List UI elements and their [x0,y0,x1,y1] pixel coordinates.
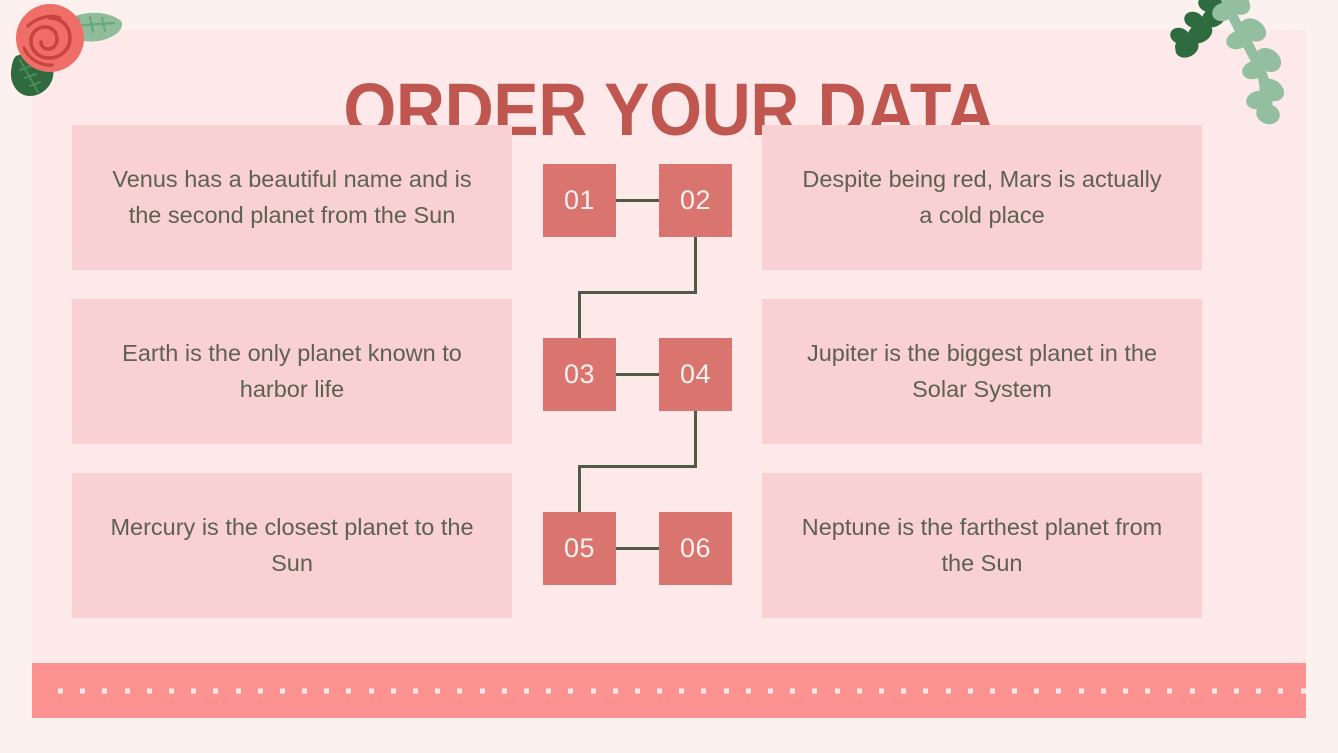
divider-dot [679,688,684,693]
step-number-label: 06 [680,533,711,564]
divider-dot [147,688,152,693]
connector-04-05-segment-into [578,465,581,512]
divider-dot [635,688,640,693]
info-card-03[interactable]: Earth is the only planet known to harbor… [72,299,512,444]
divider-dot [413,688,418,693]
slide-canvas: ORDER YOUR DATA Venus has a beautiful na… [0,0,1338,753]
step-number-label: 05 [564,533,595,564]
step-number-label: 02 [680,185,711,216]
divider-dot [546,688,551,693]
connector-04-05-segment-down [694,411,697,467]
connector-05-06 [616,547,659,550]
divider-dot [280,688,285,693]
divider-dot [102,688,107,693]
divider-dot [58,688,63,693]
connector-02-03-segment-down [694,237,697,293]
divider-dot [901,688,906,693]
dotted-divider [58,688,1306,693]
divider-dot [1190,688,1195,693]
divider-dot [1167,688,1172,693]
divider-dot [1123,688,1128,693]
bottom-decorative-bar [32,663,1306,718]
info-card-text: Neptune is the farthest planet from the … [796,510,1168,581]
divider-dot [812,688,817,693]
divider-dot [480,688,485,693]
divider-dot [768,688,773,693]
divider-dot [857,688,862,693]
step-number-box-01[interactable]: 01 [543,164,616,237]
step-number-box-03[interactable]: 03 [543,338,616,411]
divider-dot [568,688,573,693]
step-number-box-06[interactable]: 06 [659,512,732,585]
divider-dot [1101,688,1106,693]
info-card-05[interactable]: Mercury is the closest planet to the Sun [72,473,512,618]
divider-dot [968,688,973,693]
divider-dot [1079,688,1084,693]
divider-dot [923,688,928,693]
connector-02-03-segment-across [578,291,697,294]
info-card-text: Jupiter is the biggest planet in the Sol… [796,336,1168,407]
info-card-02[interactable]: Despite being red, Mars is actually a co… [762,125,1202,270]
connector-03-04 [616,373,659,376]
divider-dot [1212,688,1217,693]
divider-dot [1056,688,1061,693]
divider-dot [258,688,263,693]
connector-01-02 [616,199,659,202]
divider-dot [435,688,440,693]
divider-dot [1034,688,1039,693]
divider-dot [657,688,662,693]
divider-dot [524,688,529,693]
divider-dot [1145,688,1150,693]
divider-dot [169,688,174,693]
connector-02-03-segment-into [578,291,581,338]
info-card-text: Despite being red, Mars is actually a co… [796,162,1168,233]
step-number-label: 03 [564,359,595,390]
divider-dot [369,688,374,693]
divider-dot [502,688,507,693]
divider-dot [701,688,706,693]
divider-dot [724,688,729,693]
divider-dot [946,688,951,693]
step-number-label: 01 [564,185,595,216]
step-number-label: 04 [680,359,711,390]
info-card-06[interactable]: Neptune is the farthest planet from the … [762,473,1202,618]
divider-dot [80,688,85,693]
divider-dot [346,688,351,693]
divider-dot [1012,688,1017,693]
step-number-box-04[interactable]: 04 [659,338,732,411]
info-card-text: Mercury is the closest planet to the Sun [106,510,478,581]
step-number-box-05[interactable]: 05 [543,512,616,585]
divider-dot [236,688,241,693]
info-card-01[interactable]: Venus has a beautiful name and is the se… [72,125,512,270]
divider-dot [125,688,130,693]
divider-dot [790,688,795,693]
divider-dot [213,688,218,693]
divider-dot [457,688,462,693]
divider-dot [990,688,995,693]
divider-dot [324,688,329,693]
divider-dot [1278,688,1283,693]
info-card-text: Earth is the only planet known to harbor… [106,336,478,407]
info-card-text: Venus has a beautiful name and is the se… [106,162,478,233]
connector-04-05-segment-across [578,465,697,468]
divider-dot [1301,688,1306,693]
divider-dot [879,688,884,693]
step-number-box-02[interactable]: 02 [659,164,732,237]
divider-dot [613,688,618,693]
divider-dot [191,688,196,693]
divider-dot [302,688,307,693]
divider-dot [1234,688,1239,693]
divider-dot [1256,688,1261,693]
divider-dot [835,688,840,693]
info-card-04[interactable]: Jupiter is the biggest planet in the Sol… [762,299,1202,444]
divider-dot [391,688,396,693]
divider-dot [591,688,596,693]
divider-dot [746,688,751,693]
